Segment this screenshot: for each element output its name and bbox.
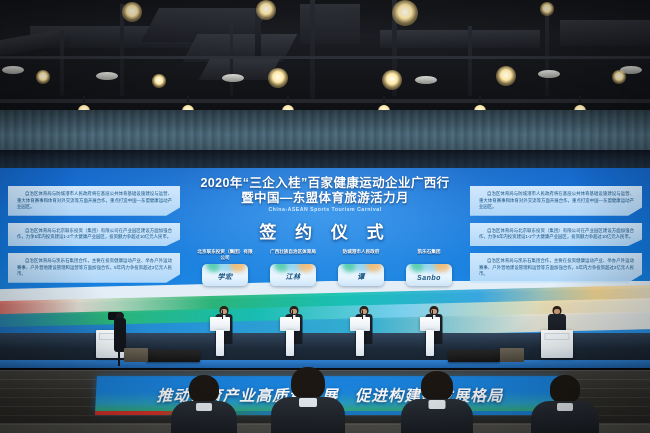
ceiling-light <box>540 2 554 16</box>
podium-mic <box>432 310 433 319</box>
party-name: 北京联东投资（集团）有限公司 <box>196 249 254 261</box>
person-collar <box>196 403 212 411</box>
info-panel: 自治区体育局与凯乐石集团合作，主要在投资健康运动产业、举办户外运动赛事、户外营地… <box>8 253 180 283</box>
info-panel: 自治区体育局与防城港市人民政府将在基层公共体育基础设施建设与运营、重大体育赛事和… <box>8 186 180 216</box>
ceiling-duct <box>380 30 540 48</box>
audience-person <box>168 381 240 433</box>
signing-party: 北京联东投资（集团）有限公司 学宏 <box>196 249 254 286</box>
person-head <box>550 375 580 403</box>
signature-card: 学宏 <box>202 264 248 286</box>
stage-podium <box>350 317 370 331</box>
screen-title-block: 2020年“三企入桂”百家健康运动企业广西行 暨中国—东盟体育旅游活力月 Chi… <box>150 176 500 243</box>
ceiling-duct <box>300 4 360 44</box>
person-collar <box>429 400 446 409</box>
ceiling-light <box>36 70 50 84</box>
person-torso <box>114 318 126 352</box>
podium-mic <box>292 310 293 319</box>
person-collar <box>299 398 317 407</box>
stage-speaker <box>500 348 524 362</box>
ceiling-light <box>152 74 166 88</box>
party-signature: Sanbo <box>406 275 452 282</box>
ceiling-duct <box>560 20 650 46</box>
audience-person <box>398 377 476 433</box>
ceiling-dish-lamp <box>415 76 437 84</box>
ceiling-beam <box>60 30 64 96</box>
ceiling-dish-lamp <box>538 70 560 78</box>
ceiling-light <box>382 70 402 90</box>
ceiling-light <box>392 0 418 26</box>
ceiling-beam <box>545 12 549 96</box>
podium-mic <box>362 310 363 319</box>
ceiling-dish-lamp <box>2 66 24 74</box>
ceiling-dish-lamp <box>222 74 244 82</box>
info-panel-text: 自治区体育局与防城港市人民政府将在基层公共体育基础设施建设与运营、重大体育赛事和… <box>17 191 172 211</box>
card-blob <box>434 264 450 272</box>
info-panel: 自治区体育局与防城港市人民政府将在基层公共体育基础设施建设与运营、重大体育赛事和… <box>470 186 642 216</box>
party-signature: 江林 <box>270 272 316 282</box>
camera-tripod <box>118 350 120 366</box>
signature-card: 谭 <box>338 264 384 286</box>
ceiling-truss-rail <box>0 56 650 59</box>
stage-monitor <box>448 350 500 362</box>
stage-podium <box>216 330 224 356</box>
info-panel-text: 自治区体育局与凯乐石集团合作，主要在投资健康运动产业、举办户外运动赛事、户外营地… <box>17 258 172 278</box>
info-panel: 自治区体育局与凯乐石集团合作，主要在投资健康运动产业、举办户外运动赛事、户外营地… <box>470 253 642 283</box>
info-panel: 自治区体育局与北京联东投资（集团）有限公司在产业园区建设方面加强合作，力争5年内… <box>8 223 180 246</box>
event-title-line2: 暨中国—东盟体育旅游活力月 <box>150 191 500 206</box>
info-panel: 自治区体育局与北京联东投资（集团）有限公司在产业园区建设方面加强合作，力争5年内… <box>470 223 642 246</box>
stage-podium <box>356 330 364 356</box>
signature-card: 江林 <box>270 264 316 286</box>
ceiling-dish-lamp <box>96 72 118 80</box>
ceiling-beam <box>310 0 315 100</box>
ceiling-light <box>496 66 516 86</box>
audience-person <box>268 373 348 433</box>
person-collar <box>557 403 573 411</box>
card-blob <box>366 264 382 272</box>
side-lectern <box>541 330 573 358</box>
stage-podium <box>210 317 230 331</box>
info-panels-right: 自治区体育局与防城港市人民政府将在基层公共体育基础设施建设与运营、重大体育赛事和… <box>470 186 642 290</box>
stage-monitor <box>146 350 200 362</box>
signing-party: 广西壮族自治区体育局 江林 <box>264 249 322 286</box>
stage-speaker <box>124 348 148 362</box>
info-panel-text: 自治区体育局与凯乐石集团合作，主要在投资健康运动产业、举办户外运动赛事、户外营地… <box>479 258 634 278</box>
stage-podium <box>286 330 294 356</box>
signing-parties-row: 北京联东投资（集团）有限公司 学宏 广西壮族自治区体育局 江林 防城 <box>196 249 458 286</box>
stage-podium <box>420 317 440 331</box>
person-head <box>421 371 453 401</box>
hall-ceiling <box>0 0 650 120</box>
podium-mic <box>222 310 223 319</box>
ceiling-truss-rail <box>0 99 650 103</box>
party-name: 广西壮族自治区体育局 <box>264 249 322 261</box>
party-name: 防城港市人民政府 <box>332 249 390 261</box>
info-panel-text: 自治区体育局与防城港市人民政府将在基层公共体育基础设施建设与运营、重大体育赛事和… <box>479 191 634 211</box>
ceiling-light <box>122 2 142 22</box>
signature-card: Sanbo <box>406 264 452 286</box>
ceiling-beam <box>468 26 472 96</box>
party-signature: 学宏 <box>202 272 248 282</box>
stage-podium <box>280 317 300 331</box>
party-name: 凯乐石集团 <box>400 249 458 261</box>
person-head <box>291 367 325 399</box>
person-head <box>189 375 219 403</box>
signing-party: 凯乐石集团 Sanbo <box>400 249 458 286</box>
ceiling-light <box>612 70 626 84</box>
event-title-line1: 2020年“三企入桂”百家健康运动企业广西行 <box>150 176 500 191</box>
stage-podium <box>426 330 434 356</box>
event-subtitle-en: China-ASEAN Sports Tourism Carnival <box>150 207 500 213</box>
ceremony-heading: 签 约 仪 式 <box>150 218 500 243</box>
ceiling-light <box>268 68 288 88</box>
ceiling-beam <box>230 24 233 96</box>
ceiling-light <box>256 0 276 20</box>
lectern-plate <box>544 333 569 340</box>
stage-front-lip <box>0 360 650 368</box>
party-signature: 谭 <box>338 272 384 282</box>
photo-scene: 2020年“三企入桂”百家健康运动企业广西行 暨中国—东盟体育旅游活力月 Chi… <box>0 0 650 433</box>
info-panels-left: 自治区体育局与防城港市人民政府将在基层公共体育基础设施建设与运营、重大体育赛事和… <box>8 186 180 290</box>
card-blob <box>298 264 314 272</box>
signing-party: 防城港市人民政府 谭 <box>332 249 390 286</box>
audience-person <box>528 381 602 433</box>
info-panel-text: 自治区体育局与北京联东投资（集团）有限公司在产业园区建设方面加强合作，力争5年内… <box>479 228 634 241</box>
card-blob <box>230 264 246 272</box>
info-panel-text: 自治区体育局与北京联东投资（集团）有限公司在产业园区建设方面加强合作，力争5年内… <box>17 228 172 241</box>
